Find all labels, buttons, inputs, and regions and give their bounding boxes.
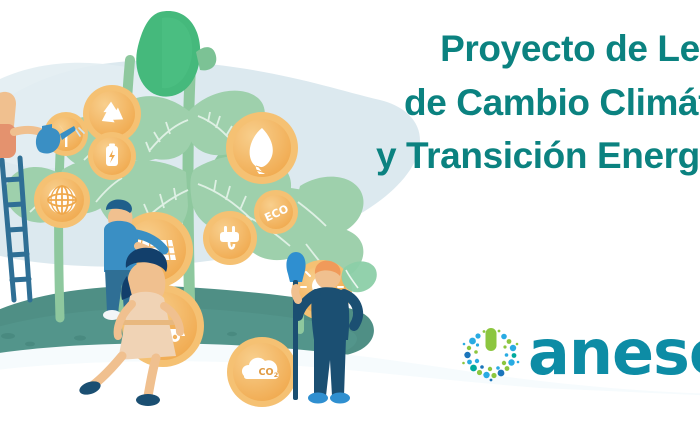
battery-coin (88, 132, 136, 180)
plug-coin (203, 211, 257, 265)
eco-coin: ECO (254, 190, 298, 234)
logo-wordmark: anese (528, 322, 700, 384)
poster-canvas: ECO (0, 0, 700, 441)
leaf-flame-coin (226, 112, 298, 184)
anese-logo[interactable]: anese (460, 322, 700, 384)
globe-coin (34, 172, 90, 228)
svg-text:CO: CO (258, 367, 273, 378)
power-button-dots-icon (460, 322, 522, 384)
svg-text:2: 2 (274, 371, 279, 379)
